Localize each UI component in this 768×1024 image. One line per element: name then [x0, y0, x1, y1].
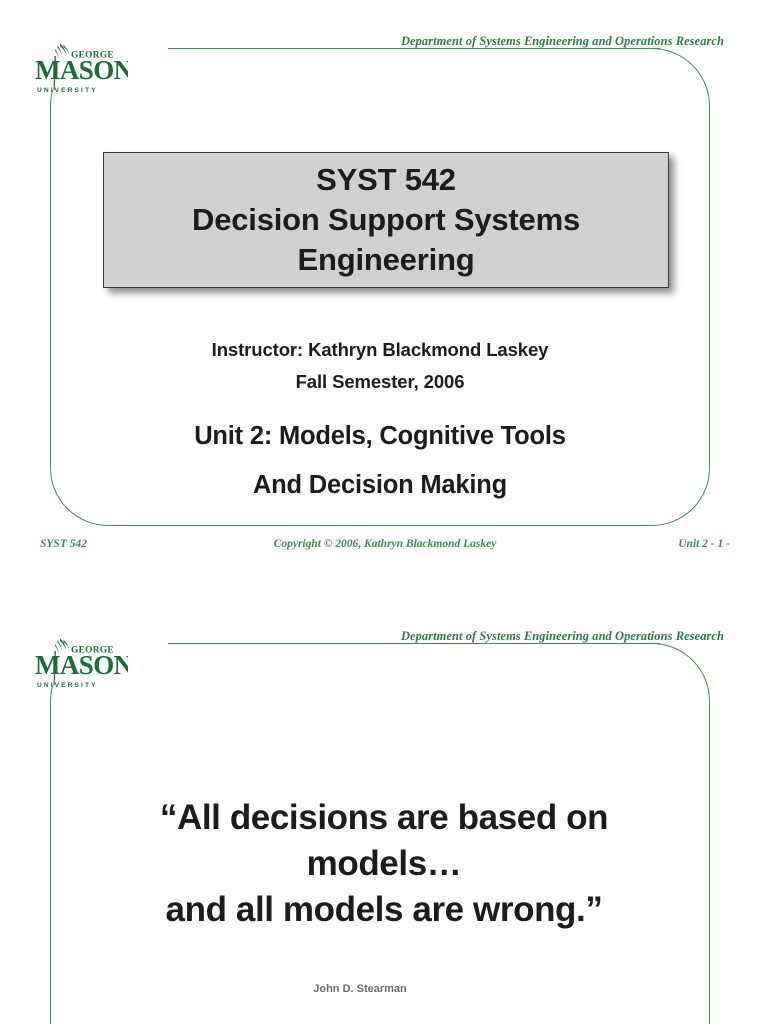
svg-text:UNIVERSITY: UNIVERSITY: [37, 682, 98, 689]
instructor-block: Instructor: Kathryn Blackmond Laskey Fal…: [50, 334, 710, 398]
slide-quote: GEORGE MASON UNIVERSITY Department of Sy…: [0, 595, 768, 1024]
department-header: Department of Systems Engineering and Op…: [401, 34, 724, 49]
slide-deck-page: GEORGE MASON UNIVERSITY Department of Sy…: [0, 0, 768, 1024]
quote-attribution: John D. Stearman: [60, 983, 660, 995]
gmu-logo: GEORGE MASON UNIVERSITY: [33, 42, 128, 96]
footer-copyright: Copyright © 2006, Kathryn Blackmond Lask…: [274, 538, 497, 550]
unit-title-line-1: Unit 2: Models, Cognitive Tools: [50, 412, 710, 461]
footer-page-number: Unit 2 - 1 -: [678, 538, 730, 550]
course-title-line-3: Engineering: [192, 240, 580, 280]
course-title-line-1: SYST 542: [192, 160, 580, 200]
unit-title-block: Unit 2: Models, Cognitive Tools And Deci…: [50, 412, 710, 511]
gmu-logo: GEORGE MASON UNIVERSITY: [33, 637, 128, 691]
course-title-line-2: Decision Support Systems: [192, 200, 580, 240]
course-title-box: SYST 542 Decision Support Systems Engine…: [103, 152, 669, 288]
quote-line-2: models…: [60, 841, 708, 887]
svg-text:MASON: MASON: [35, 55, 128, 85]
slide-footer: SYST 542 Copyright © 2006, Kathryn Black…: [40, 538, 730, 556]
svg-text:UNIVERSITY: UNIVERSITY: [37, 87, 98, 94]
quote-block: “All decisions are based on models… and …: [60, 795, 708, 934]
quote-line-3: and all models are wrong.”: [60, 887, 708, 933]
instructor-name: Instructor: Kathryn Blackmond Laskey: [50, 334, 710, 366]
footer-course-code: SYST 542: [40, 538, 87, 550]
unit-title-line-2: And Decision Making: [50, 461, 710, 510]
quote-line-1: “All decisions are based on: [60, 795, 708, 841]
slide-title: GEORGE MASON UNIVERSITY Department of Sy…: [0, 0, 768, 575]
svg-text:MASON: MASON: [35, 650, 128, 680]
course-title-text: SYST 542 Decision Support Systems Engine…: [192, 160, 580, 279]
semester-label: Fall Semester, 2006: [50, 366, 710, 398]
department-header: Department of Systems Engineering and Op…: [401, 629, 724, 644]
